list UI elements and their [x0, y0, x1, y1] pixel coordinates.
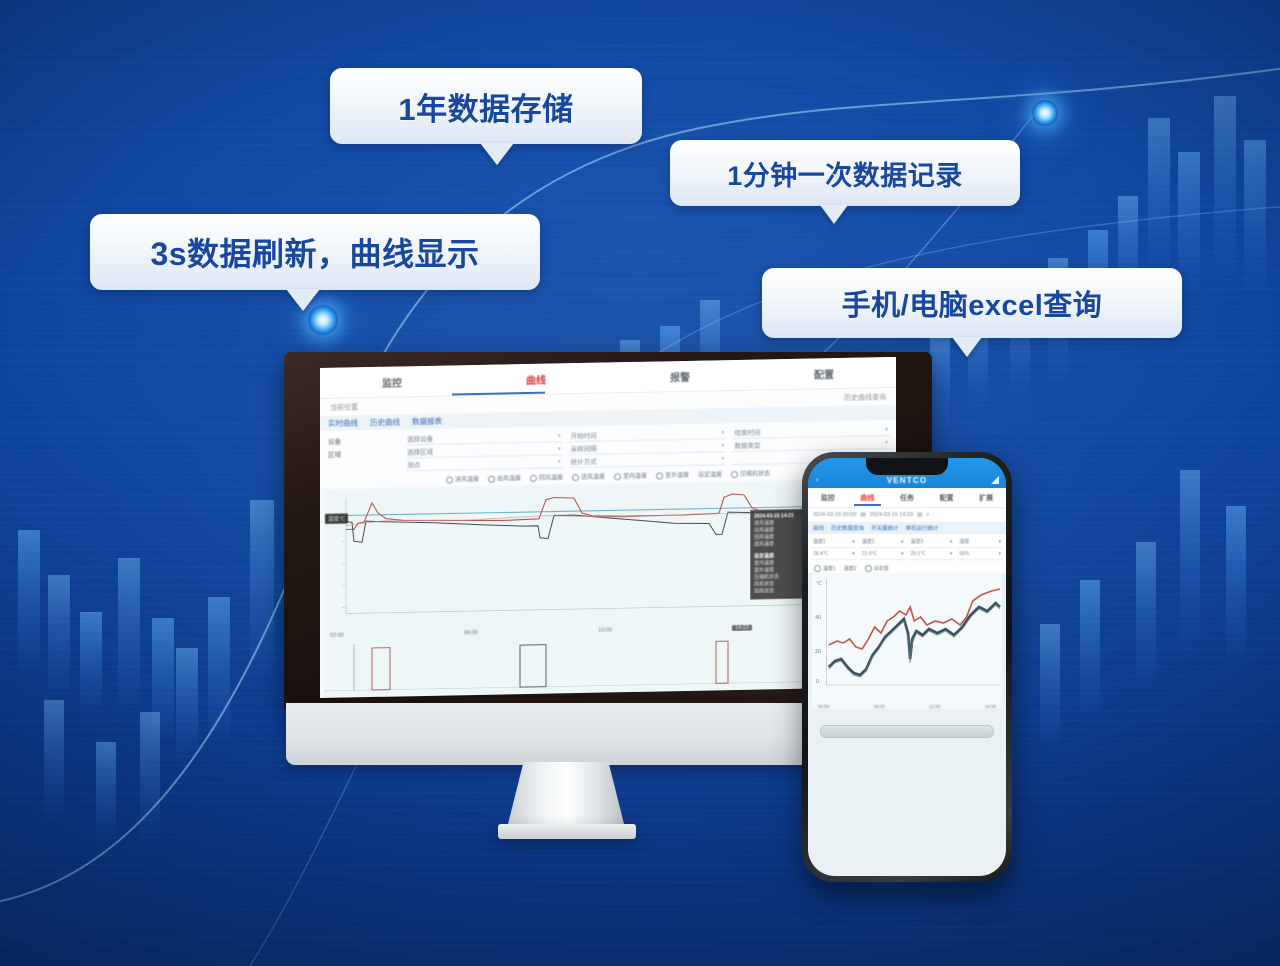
phone-chip-switch[interactable]: 开关量统计 — [871, 524, 899, 532]
grid-value-cell: 56%▾ — [957, 549, 1003, 560]
bubble-tail-icon — [480, 143, 514, 165]
legend-item[interactable]: 出风温度 — [488, 473, 521, 483]
subbar-right-label: 历史曲线查询 — [844, 392, 886, 403]
filter-label-spacer — [326, 459, 399, 471]
date-from-value[interactable]: 2024-03-15 00:00 — [813, 512, 856, 518]
legend-dot-icon — [814, 565, 821, 572]
phone-trend-chart[interactable]: ℃ 40 20 0 — [812, 573, 1002, 704]
legend-dot-icon — [530, 475, 537, 482]
chevron-down-icon: ▾ — [901, 539, 904, 545]
phone-screen: ‹ VENTCO 监控 曲线 任务 配置 扩展 2024-03-15 00:00… — [808, 458, 1006, 876]
filter-value: 数据类型 — [734, 440, 760, 450]
nav-tab-curve[interactable]: 曲线 — [464, 370, 608, 388]
phone-chart-svg: ℃ 40 20 0 — [812, 573, 1002, 699]
x-tick: 00:00 — [818, 704, 829, 709]
nav-tab-monitor[interactable]: 监控 — [320, 373, 464, 391]
chevron-down-icon: ▾ — [852, 551, 855, 557]
mobile-phone: ‹ VENTCO 监控 曲线 任务 配置 扩展 2024-03-15 00:00… — [802, 452, 1012, 882]
filter-label-area: 区域 — [326, 446, 399, 458]
bubble-tail-icon — [820, 205, 848, 224]
callout-bubble-query: 手机/电脑excel查询 — [762, 268, 1182, 338]
x-tick: 18:00 — [985, 704, 996, 709]
phone-tab-curve[interactable]: 曲线 — [848, 493, 888, 503]
phone-app-title: VENTCO — [887, 476, 928, 485]
nav-tab-config[interactable]: 配置 — [752, 364, 896, 382]
legend-item[interactable]: 送风温度 — [572, 472, 605, 482]
nav-tab-alarm[interactable]: 报警 — [608, 367, 752, 385]
phone-tab-monitor[interactable]: 监控 — [808, 493, 848, 503]
phone-chart-legend[interactable]: 温度1 温度2 设定值 — [808, 562, 1006, 573]
chevron-down-icon: ▾ — [852, 539, 855, 545]
date-to-value[interactable]: 2024-03-15 14:23 — [870, 512, 913, 518]
phone-chip-unit[interactable]: 单机运行统计 — [906, 524, 939, 532]
legend-item[interactable]: 温度1 — [814, 565, 836, 572]
phone-chart-xaxis: 00:00 06:00 12:00 18:00 — [812, 704, 1002, 709]
legend-item[interactable]: 温度2 — [844, 565, 857, 572]
chevron-down-icon: ▾ — [885, 426, 888, 433]
grid-header-cell: 温度1▾ — [811, 537, 857, 548]
phone-tab-more[interactable]: 扩展 — [966, 493, 1006, 503]
chevron-down-icon: ▾ — [721, 442, 724, 449]
chevron-down-icon: ▾ — [558, 432, 561, 439]
svg-text:40: 40 — [815, 615, 821, 621]
grid-header-cell: 温度2▾ — [860, 537, 906, 548]
chevron-down-icon: ▾ — [885, 439, 888, 446]
legend-dot-icon — [488, 476, 495, 483]
callout-bubble-interval: 1分钟一次数据记录 — [670, 140, 1020, 206]
chevron-down-icon: ▾ — [558, 458, 561, 465]
filter-value: 测点 — [407, 459, 420, 469]
filter-value: 选择区域 — [407, 446, 433, 456]
monitor-stand-neck — [507, 762, 625, 828]
callout-bubble-refresh: 3s数据刷新，曲线显示 — [90, 214, 540, 290]
chevron-down-icon: ▾ — [721, 429, 724, 436]
filter-value: 结束时间 — [734, 427, 760, 437]
chevron-down-icon: ▾ — [558, 445, 561, 452]
signal-icon — [991, 476, 999, 484]
filter-label-device: 设备 — [326, 433, 399, 445]
promo-stage: 1年数据存储 1分钟一次数据记录 3s数据刷新，曲线显示 手机/电脑excel查… — [0, 0, 1280, 966]
legend-dot-icon — [614, 473, 621, 480]
grid-header-cell: 温度3▾ — [909, 537, 955, 548]
legend-item[interactable]: 室内温度 — [614, 471, 647, 481]
grid-value-cell: 25.1℃▾ — [909, 549, 955, 560]
legend-dot-icon — [446, 476, 453, 483]
legend-item[interactable]: 回风温度 — [530, 472, 563, 482]
svg-text:℃: ℃ — [816, 581, 822, 587]
chevron-down-icon: ▾ — [950, 539, 953, 545]
filter-value: 统计方式 — [571, 456, 597, 466]
phone-chip-row[interactable]: 曲线 历史数据查询 开关量统计 单机运行统计 — [808, 522, 1006, 534]
phone-grid-value-row: 28.4℃▾ 21.6℃▾ 25.1℃▾ 56%▾ — [811, 548, 1003, 560]
subtab-realtime[interactable]: 实时曲线 — [328, 417, 358, 429]
filter-select-point[interactable]: 测点 ▾ — [405, 456, 563, 471]
glow-node-icon — [1032, 100, 1058, 126]
callout-text: 1分钟一次数据记录 — [727, 154, 963, 193]
chevron-down-icon: ▾ — [721, 455, 724, 462]
callout-text: 1年数据存储 — [398, 84, 573, 129]
chevron-left-icon[interactable]: ‹ — [816, 475, 819, 484]
legend-item[interactable]: 室外温度 — [656, 470, 689, 480]
phone-tab-task[interactable]: 任务 — [887, 493, 927, 503]
phone-date-filter[interactable]: 2024-03-15 00:00 ▤ 2024-03-15 14:23 ▤ ⌕ — [808, 508, 1006, 522]
svg-text:20: 20 — [815, 649, 821, 655]
bubble-tail-icon — [952, 337, 982, 357]
legend-dot-icon — [731, 471, 738, 478]
chevron-down-icon: ▾ — [950, 551, 953, 557]
x-tick: 12:00 — [929, 704, 940, 709]
callout-bubble-storage: 1年数据存储 — [330, 68, 642, 144]
grid-value-cell: 21.6℃▾ — [860, 549, 906, 560]
y-axis-value-chip: 温度℃ — [325, 513, 348, 523]
phone-value-grid: 温度1▾ 温度2▾ 温度3▾ 湿度▾ 28.4℃▾ 21.6℃▾ 25.1℃▾ … — [808, 534, 1006, 562]
grid-value-cell: 28.4℃▾ — [811, 549, 857, 560]
legend-item[interactable]: 进风温度 — [446, 474, 479, 484]
phone-chip-history[interactable]: 历史数据查询 — [831, 524, 864, 532]
legend-dot-icon — [656, 472, 663, 479]
legend-item[interactable]: 设定值 — [865, 565, 889, 572]
chevron-down-icon: ▾ — [998, 551, 1001, 557]
filter-select-statmode[interactable]: 统计方式 ▾ — [569, 453, 727, 468]
legend-dot-icon — [865, 565, 872, 572]
calendar-icon[interactable]: ▤ — [860, 512, 865, 518]
legend-dot-icon — [572, 474, 579, 481]
legend-item[interactable]: 设定温度 — [698, 469, 722, 478]
chevron-down-icon: ▾ — [998, 539, 1001, 545]
filter-value: 选择设备 — [407, 433, 433, 443]
breadcrumb: 当前位置 — [330, 402, 358, 413]
phone-tab-underline — [854, 504, 882, 506]
legend-item[interactable]: 压缩机状态 — [731, 468, 770, 478]
phone-tab-config[interactable]: 配置 — [927, 493, 967, 503]
phone-grid-header-row: 温度1▾ 温度2▾ 温度3▾ 湿度▾ — [811, 536, 1003, 548]
filter-value: 采样间隔 — [571, 443, 597, 453]
grid-header-cell: 湿度▾ — [957, 537, 1003, 548]
subtab-history[interactable]: 历史曲线 — [370, 416, 400, 428]
phone-notch — [866, 458, 948, 475]
chevron-down-icon: ▾ — [901, 551, 904, 557]
monitor-stand-foot — [498, 824, 636, 839]
svg-text:0: 0 — [816, 679, 819, 685]
phone-tabbar[interactable]: 监控 曲线 任务 配置 扩展 — [808, 488, 1006, 508]
phone-chip-curve[interactable]: 曲线 — [813, 524, 824, 532]
callout-text: 3s数据刷新，曲线显示 — [150, 229, 479, 275]
search-icon[interactable]: ⌕ — [926, 512, 929, 519]
horizontal-scrollbar[interactable] — [820, 725, 994, 738]
filter-value: 开始时间 — [571, 430, 597, 440]
callout-text: 手机/电脑excel查询 — [842, 282, 1103, 324]
x-tick: 06:00 — [874, 704, 885, 709]
calendar-icon[interactable]: ▤ — [917, 512, 922, 518]
subtab-report[interactable]: 数据报表 — [412, 416, 442, 428]
bubble-tail-icon — [286, 289, 320, 311]
